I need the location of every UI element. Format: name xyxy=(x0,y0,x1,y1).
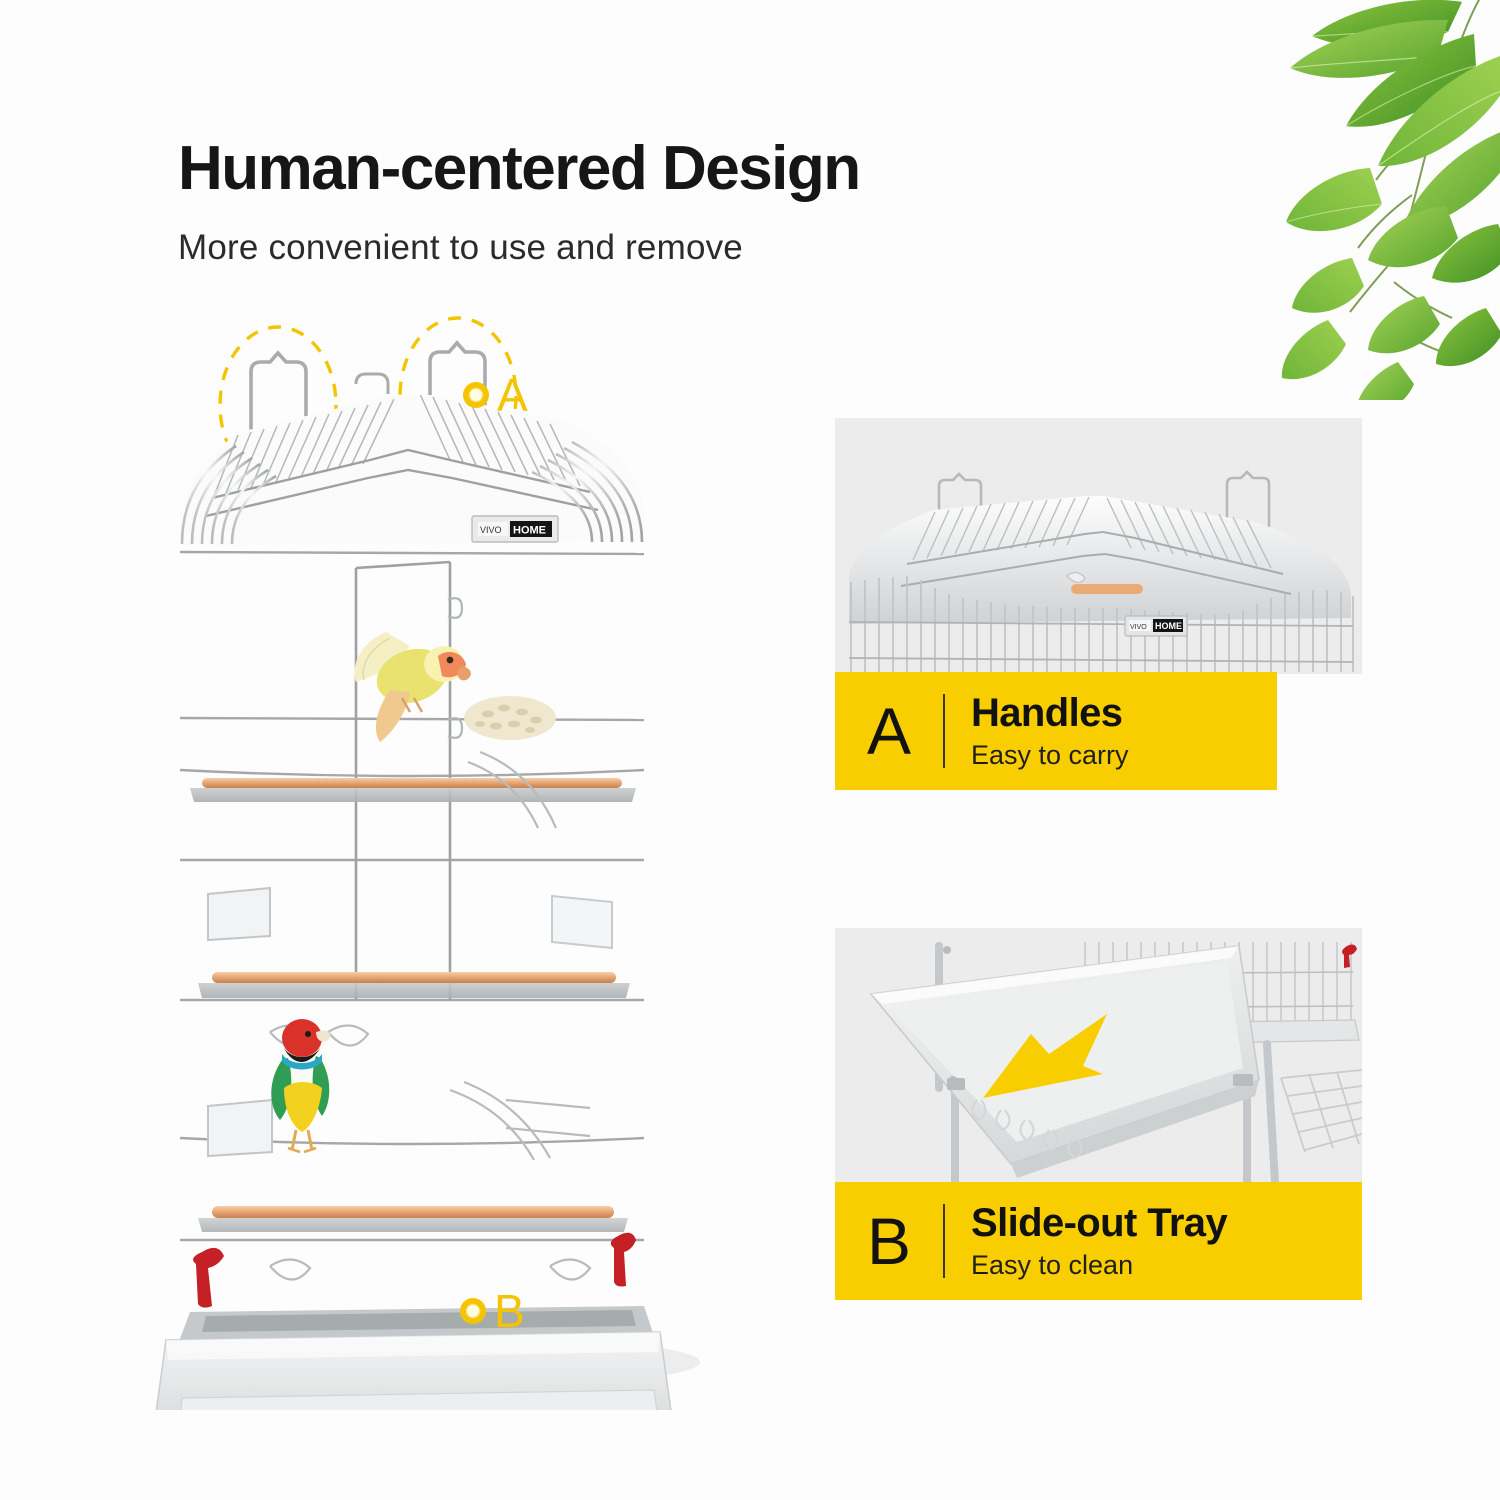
panel-b-title: Slide-out Tray xyxy=(971,1202,1227,1245)
headline-block: Human-centered Design More convenient to… xyxy=(178,136,1128,269)
page-title: Human-centered Design xyxy=(178,136,1128,201)
marker-letter-b: B xyxy=(494,1288,525,1334)
panel-a-subtitle: Easy to carry xyxy=(971,741,1129,771)
marker-letter-a: A xyxy=(497,372,528,418)
panel-a-divider xyxy=(943,694,945,768)
svg-text:HOME: HOME xyxy=(1155,621,1182,631)
infographic-page: Human-centered Design More convenient to… xyxy=(0,0,1500,1500)
hero-product-image: VIVO HOME xyxy=(120,300,820,1410)
svg-text:VIVO: VIVO xyxy=(1130,624,1147,631)
page-subtitle: More convenient to use and remove xyxy=(178,227,1128,269)
panel-b-photo xyxy=(835,928,1362,1184)
panel-a-letter: A xyxy=(835,698,943,764)
marker-dot-b-icon xyxy=(460,1298,486,1324)
hero-marker-b: B xyxy=(460,1288,525,1334)
marker-dot-a-icon xyxy=(463,382,489,408)
panel-b-letter: B xyxy=(835,1208,943,1274)
hero-marker-a: A xyxy=(463,372,528,418)
panel-b-divider xyxy=(943,1204,945,1278)
svg-text:HOME: HOME xyxy=(513,525,546,537)
panel-b-subtitle: Easy to clean xyxy=(971,1251,1227,1281)
svg-text:VIVO: VIVO xyxy=(480,525,502,535)
panel-a-photo: VIVO HOME xyxy=(835,418,1362,674)
leaf-branch-decoration xyxy=(1170,0,1500,400)
panel-b-label-band: B Slide-out Tray Easy to clean xyxy=(835,1182,1362,1300)
feature-panel-a: VIVO HOME A Handles Easy to carry xyxy=(835,418,1365,790)
panel-a-label-band: A Handles Easy to carry xyxy=(835,672,1277,790)
panel-a-title: Handles xyxy=(971,692,1129,735)
feature-panel-b: B Slide-out Tray Easy to clean xyxy=(835,928,1365,1300)
